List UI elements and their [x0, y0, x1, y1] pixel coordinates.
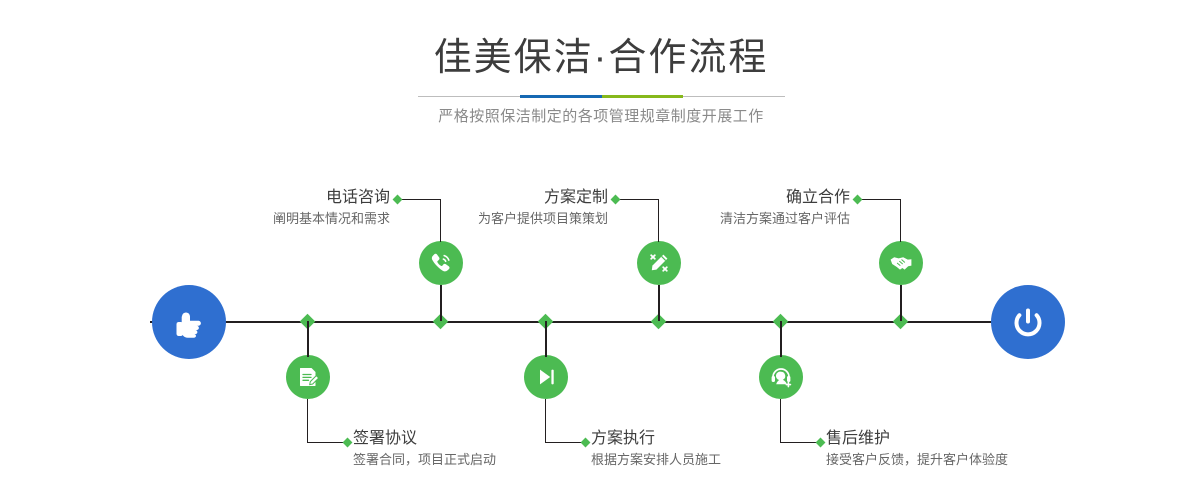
step-stem-4: [545, 321, 547, 357]
page-subtitle: 严格按照保洁制定的各项管理规章制度开展工作: [0, 105, 1202, 129]
step-connector-6: [778, 399, 830, 443]
step-node-6[interactable]: [759, 355, 803, 399]
play-skip-icon: [533, 364, 559, 390]
title-divider: [418, 95, 785, 98]
step-node-1[interactable]: [419, 241, 463, 285]
step-node-5[interactable]: [879, 241, 923, 285]
headset-add-icon: [768, 364, 794, 390]
flow-diagram-canvas: 佳美保洁·合作流程 严格按照保洁制定的各项管理规章制度开展工作: [0, 0, 1202, 502]
step-stem-2: [307, 321, 309, 357]
handshake-icon: [888, 250, 914, 276]
step-node-3[interactable]: [637, 241, 681, 285]
timeline-axis: [150, 321, 1052, 323]
divider-left-grey: [418, 96, 520, 97]
flow-start-node[interactable]: [152, 285, 226, 359]
power-icon: [1008, 302, 1048, 342]
step-connector-4: [543, 399, 595, 443]
divider-green-segment: [602, 95, 683, 98]
step-label-6: 售后维护 接受客户反馈，提升客户体验度: [826, 428, 1146, 470]
step-connector-5: [850, 199, 902, 243]
page-title: 佳美保洁·合作流程: [0, 35, 1202, 81]
step-desc-5: 清洁方案通过客户评估: [560, 209, 850, 229]
step-stem-1: [440, 285, 442, 321]
step-title-5: 确立合作: [560, 187, 850, 209]
step-desc-6: 接受客户反馈，提升客户体验度: [826, 450, 1146, 470]
pencil-ruler-icon: [646, 250, 672, 276]
step-stem-3: [658, 285, 660, 321]
divider-right-grey: [683, 96, 785, 97]
step-node-2[interactable]: [286, 355, 330, 399]
step-label-5: 确立合作 清洁方案通过客户评估: [560, 187, 850, 229]
step-node-4[interactable]: [524, 355, 568, 399]
step-stem-5: [900, 285, 902, 321]
flow-end-node[interactable]: [991, 285, 1065, 359]
divider-blue-segment: [520, 95, 602, 98]
document-pen-icon: [295, 364, 321, 390]
step-stem-6: [780, 321, 782, 357]
step-title-6: 售后维护: [826, 428, 1146, 450]
phone-call-icon: [428, 250, 454, 276]
step-connector-2: [305, 399, 357, 443]
pointing-hand-icon: [169, 302, 209, 342]
